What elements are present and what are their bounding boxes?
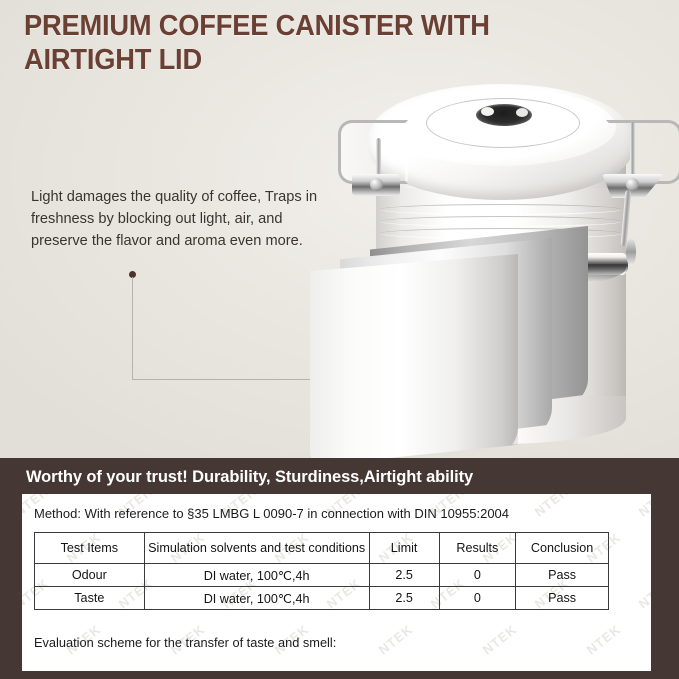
table-row: OdourDI water, 100℃,4h2.50Pass (35, 564, 609, 587)
table-cell: 0 (439, 564, 516, 587)
table-cell: DI water, 100℃,4h (144, 587, 369, 610)
test-results-table: Test ItemsSimulation solvents and test c… (34, 532, 609, 610)
clamp-knob-right (626, 178, 639, 191)
table-header-row: Test ItemsSimulation solvents and test c… (35, 533, 609, 564)
table-cell: DI water, 100℃,4h (144, 564, 369, 587)
watermark-text: NTEK (636, 494, 651, 520)
watermark-text: NTEK (480, 621, 520, 657)
trust-section: Worthy of your trust! Durability, Sturdi… (0, 458, 679, 679)
clamp-hook-tip-right (626, 238, 636, 266)
watermark-text: NTEK (428, 667, 468, 671)
watermark-text: NTEK (376, 621, 416, 657)
table-header-cell: Conclusion (516, 533, 609, 564)
feature-callout-text: Light damages the quality of coffee, Tra… (31, 186, 321, 253)
test-method-line: Method: With reference to §35 LMBG L 009… (34, 506, 509, 521)
watermark-text: NTEK (220, 667, 260, 671)
watermark-text: NTEK (22, 667, 52, 671)
clamp-stem-left (376, 138, 381, 178)
table-header-cell: Test Items (35, 533, 145, 564)
page-title: PREMIUM COFFEE CANISTER WITH AIRTIGHT LI… (24, 10, 588, 78)
table-row: TasteDI water, 100℃,4h2.50Pass (35, 587, 609, 610)
table-cell: Odour (35, 564, 145, 587)
coffee-canister-image (330, 78, 679, 458)
lid-vent-highlight-right (516, 108, 528, 117)
watermark-text: NTEK (636, 575, 651, 611)
table-cell: 2.5 (369, 587, 439, 610)
canister-ring-1 (380, 204, 622, 215)
watermark-text: NTEK (324, 667, 364, 671)
watermark-text: NTEK (116, 667, 156, 671)
table-header-cell: Limit (369, 533, 439, 564)
watermark-text: NTEK (532, 494, 572, 520)
table-cell: Taste (35, 587, 145, 610)
product-infographic: PREMIUM COFFEE CANISTER WITH AIRTIGHT LI… (0, 0, 679, 679)
table-cell: Pass (516, 564, 609, 587)
lid-vent-highlight-left (481, 107, 494, 116)
watermark-text: NTEK (532, 667, 572, 671)
test-report-document: NTEKNTEKNTEKNTEKNTEKNTEKNTEKNTEKNTEKNTEK… (22, 494, 651, 671)
trust-heading: Worthy of your trust! Durability, Sturdi… (26, 468, 473, 487)
table-header-cell: Simulation solvents and test conditions (144, 533, 369, 564)
table-cell: 2.5 (369, 564, 439, 587)
table-header-cell: Results (439, 533, 516, 564)
wall-layer-outer (310, 254, 518, 458)
watermark-text: NTEK (584, 621, 624, 657)
table-cell: 0 (439, 587, 516, 610)
watermark-text: NTEK (636, 667, 651, 671)
callout-leader-vertical (132, 277, 133, 380)
clamp-knob-left (370, 178, 383, 191)
canister-ring-2 (380, 216, 622, 227)
table-cell: Pass (516, 587, 609, 610)
evaluation-note: Evaluation scheme for the transfer of ta… (34, 635, 336, 650)
hero-section: PREMIUM COFFEE CANISTER WITH AIRTIGHT LI… (0, 0, 679, 458)
